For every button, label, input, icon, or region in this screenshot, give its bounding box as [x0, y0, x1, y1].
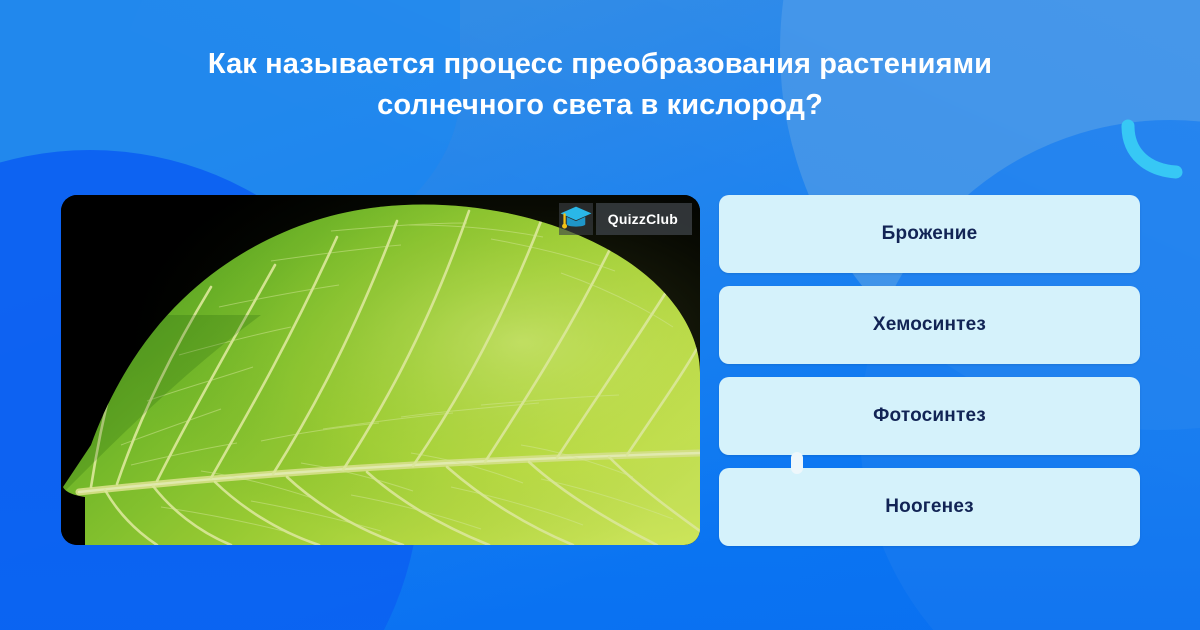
- answer-option-label: Ноогенез: [885, 496, 974, 518]
- answer-option-label: Фотосинтез: [873, 405, 986, 427]
- answer-option-3[interactable]: Фотосинтез: [719, 377, 1140, 455]
- watermark: QuizzClub: [559, 203, 692, 235]
- answer-options-list: Брожение Хемосинтез Фотосинтез Ноогенез: [719, 195, 1140, 559]
- question-title-line-1: Как называется процесс преобразования ра…: [100, 44, 1100, 85]
- leaf-photo-illustration: [61, 195, 700, 545]
- answer-option-1[interactable]: Брожение: [719, 195, 1140, 273]
- question-title: Как называется процесс преобразования ра…: [100, 44, 1100, 126]
- question-title-line-2: солнечного света в кислород?: [100, 85, 1100, 126]
- answer-option-2[interactable]: Хемосинтез: [719, 286, 1140, 364]
- watermark-label: QuizzClub: [596, 203, 692, 235]
- graduation-cap-icon: [559, 203, 593, 235]
- answer-option-label: Брожение: [882, 223, 978, 245]
- answer-option-label: Хемосинтез: [873, 314, 986, 336]
- quiz-question-card: Как называется процесс преобразования ра…: [0, 0, 1200, 630]
- question-image-panel: QuizzClub: [61, 195, 700, 545]
- scroll-thumb-marker[interactable]: [791, 452, 803, 474]
- crescent-arc-icon: [1118, 118, 1188, 182]
- answer-option-4[interactable]: Ноогенез: [719, 468, 1140, 546]
